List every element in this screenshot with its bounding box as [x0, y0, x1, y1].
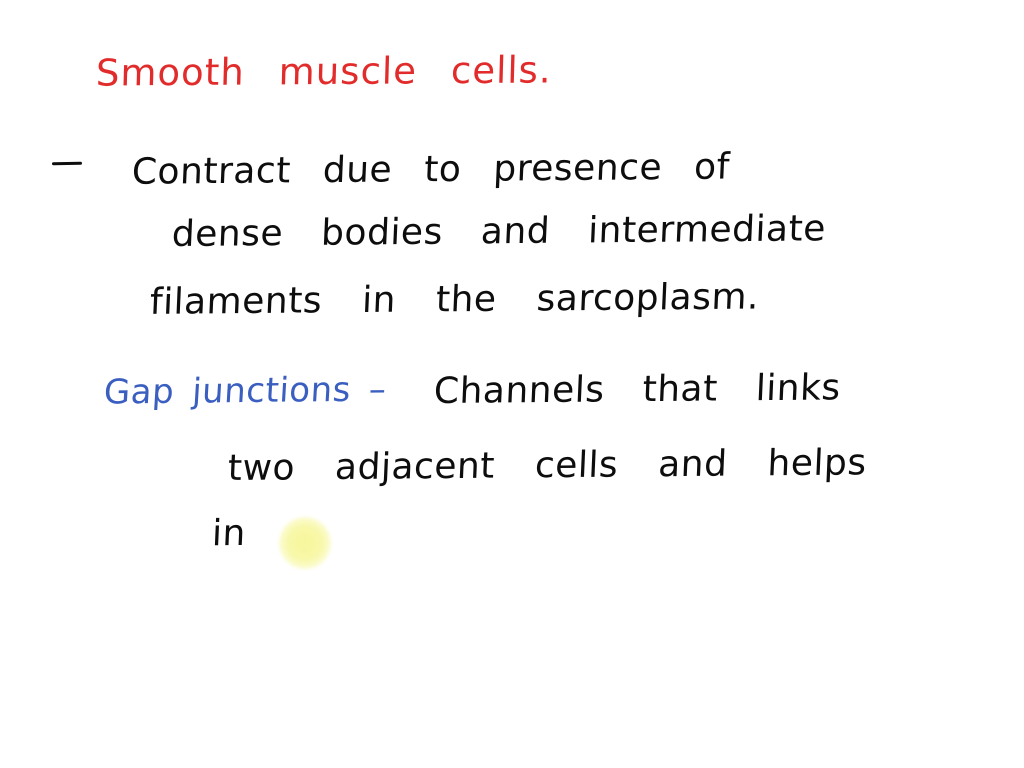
body-word: of — [693, 146, 731, 190]
body-word: due — [322, 148, 393, 193]
note-definition-line-3: in — [211, 512, 273, 557]
term-separator: – — [368, 369, 388, 411]
note-term-gap-junctions: Gapjunctions– — [103, 369, 388, 414]
handwritten-note-canvas: Smoothmusclecells. Contractduetopresence… — [0, 0, 1024, 768]
dash-bullet-icon — [52, 162, 82, 166]
body-word: Contract — [131, 149, 292, 194]
body-word: intermediate — [587, 207, 827, 253]
definition-word: two — [227, 446, 296, 491]
definition-word: Channels — [433, 368, 606, 413]
body-word: to — [423, 148, 462, 192]
term-word: junctions — [191, 369, 352, 413]
definition-word: helps — [767, 441, 868, 486]
title-word: Smooth — [95, 51, 245, 96]
term-word: Gap — [103, 371, 176, 414]
definition-word: and — [657, 443, 728, 488]
body-word: and — [480, 210, 551, 255]
title-word: muscle — [278, 49, 417, 94]
note-body-line-3: filamentsinthesarcoplasm. — [149, 275, 800, 325]
body-word: filaments — [149, 279, 323, 325]
note-body-line-1: Contractduetopresenceof — [131, 145, 763, 194]
body-word: sarcoplasm. — [536, 276, 760, 322]
definition-word: that — [642, 367, 719, 412]
body-word: the — [435, 278, 498, 323]
body-word: dense — [171, 212, 284, 257]
definition-word: in — [211, 512, 247, 556]
definition-word: cells — [534, 444, 619, 489]
note-body-line-2: densebodiesandintermediate — [171, 207, 865, 257]
body-word: bodies — [320, 211, 444, 256]
title-word: cells. — [450, 48, 552, 93]
note-definition-line-2: twoadjacentcellsandhelps — [227, 441, 908, 491]
body-word: presence — [492, 146, 663, 191]
definition-word: adjacent — [334, 445, 496, 490]
note-definition-line-1: Channelsthatlinks — [433, 366, 880, 414]
pen-cursor-highlight-icon — [279, 517, 331, 569]
body-word: in — [361, 279, 397, 323]
note-title: Smoothmusclecells. — [95, 48, 552, 95]
definition-word: links — [755, 366, 842, 411]
